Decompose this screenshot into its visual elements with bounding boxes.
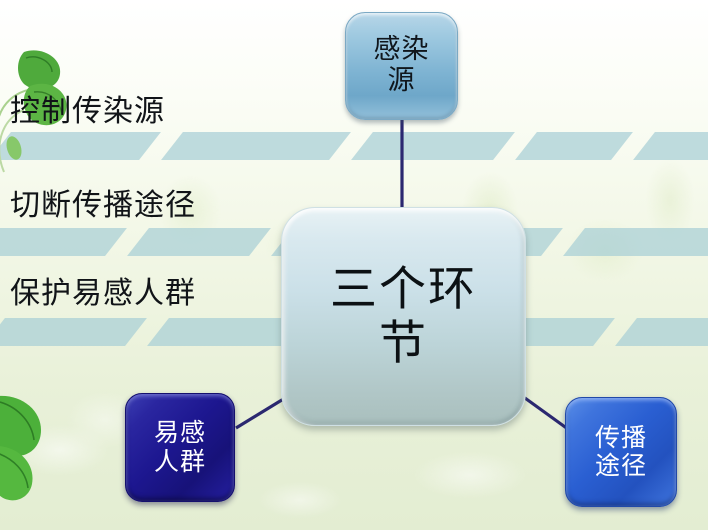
- caption-cut-transmission: 切断传播途径: [10, 180, 196, 224]
- node-transmission-route[interactable]: 传播 途径: [565, 397, 677, 507]
- node-infection-source-label: 感染 源: [374, 35, 430, 97]
- node-infection-source[interactable]: 感染 源: [345, 12, 458, 120]
- node-three-links[interactable]: 三个环 节: [281, 207, 526, 426]
- node-three-links-label: 三个环 节: [330, 263, 477, 370]
- caption-control-source: 控制传染源: [10, 86, 165, 130]
- slide-canvas: 感染 源 三个环 节 易感 人群 传播 途径 控制传染源 切断传播途径 保护易感…: [0, 0, 708, 530]
- caption-protect-susceptible: 保护易感人群: [10, 268, 196, 312]
- node-susceptible-population-label: 易感 人群: [154, 419, 206, 476]
- node-susceptible-population[interactable]: 易感 人群: [125, 393, 235, 502]
- node-transmission-route-label: 传播 途径: [595, 424, 647, 481]
